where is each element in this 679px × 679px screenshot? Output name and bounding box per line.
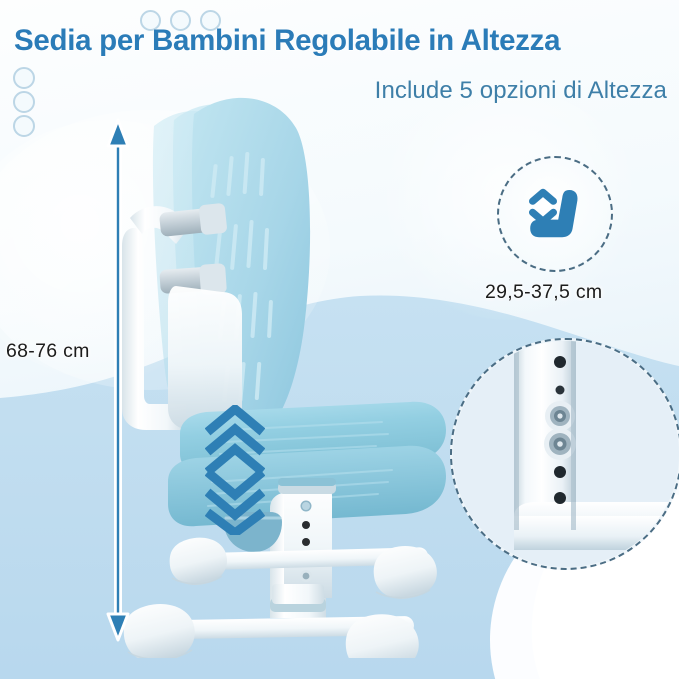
page-title: Sedia per Bambini Regolabile in Altezza: [14, 24, 674, 58]
height-dimension-arrow: [113, 122, 123, 638]
product-banner: Sedia per Bambini Regolabile in Altezza …: [0, 0, 679, 679]
dimension-arrow-head-top: [106, 118, 130, 148]
chair-illustration: [120, 78, 520, 658]
dimension-arrow-head-bottom: [106, 612, 130, 642]
decor-dot-left-3: [13, 115, 35, 137]
seat-height-label: 29,5-37,5 cm: [485, 281, 602, 304]
total-height-label: 68-76 cm: [6, 340, 90, 363]
decor-dot-left-2: [13, 91, 35, 113]
chair-height-adjust-icon: [523, 182, 587, 246]
seat-height-callout: [497, 156, 613, 272]
decor-dot-left-1: [13, 67, 35, 89]
chair-post-holes-photo: [452, 340, 679, 568]
height-adjust-chevrons: [205, 405, 265, 535]
adjustment-holes-callout: [450, 338, 679, 570]
